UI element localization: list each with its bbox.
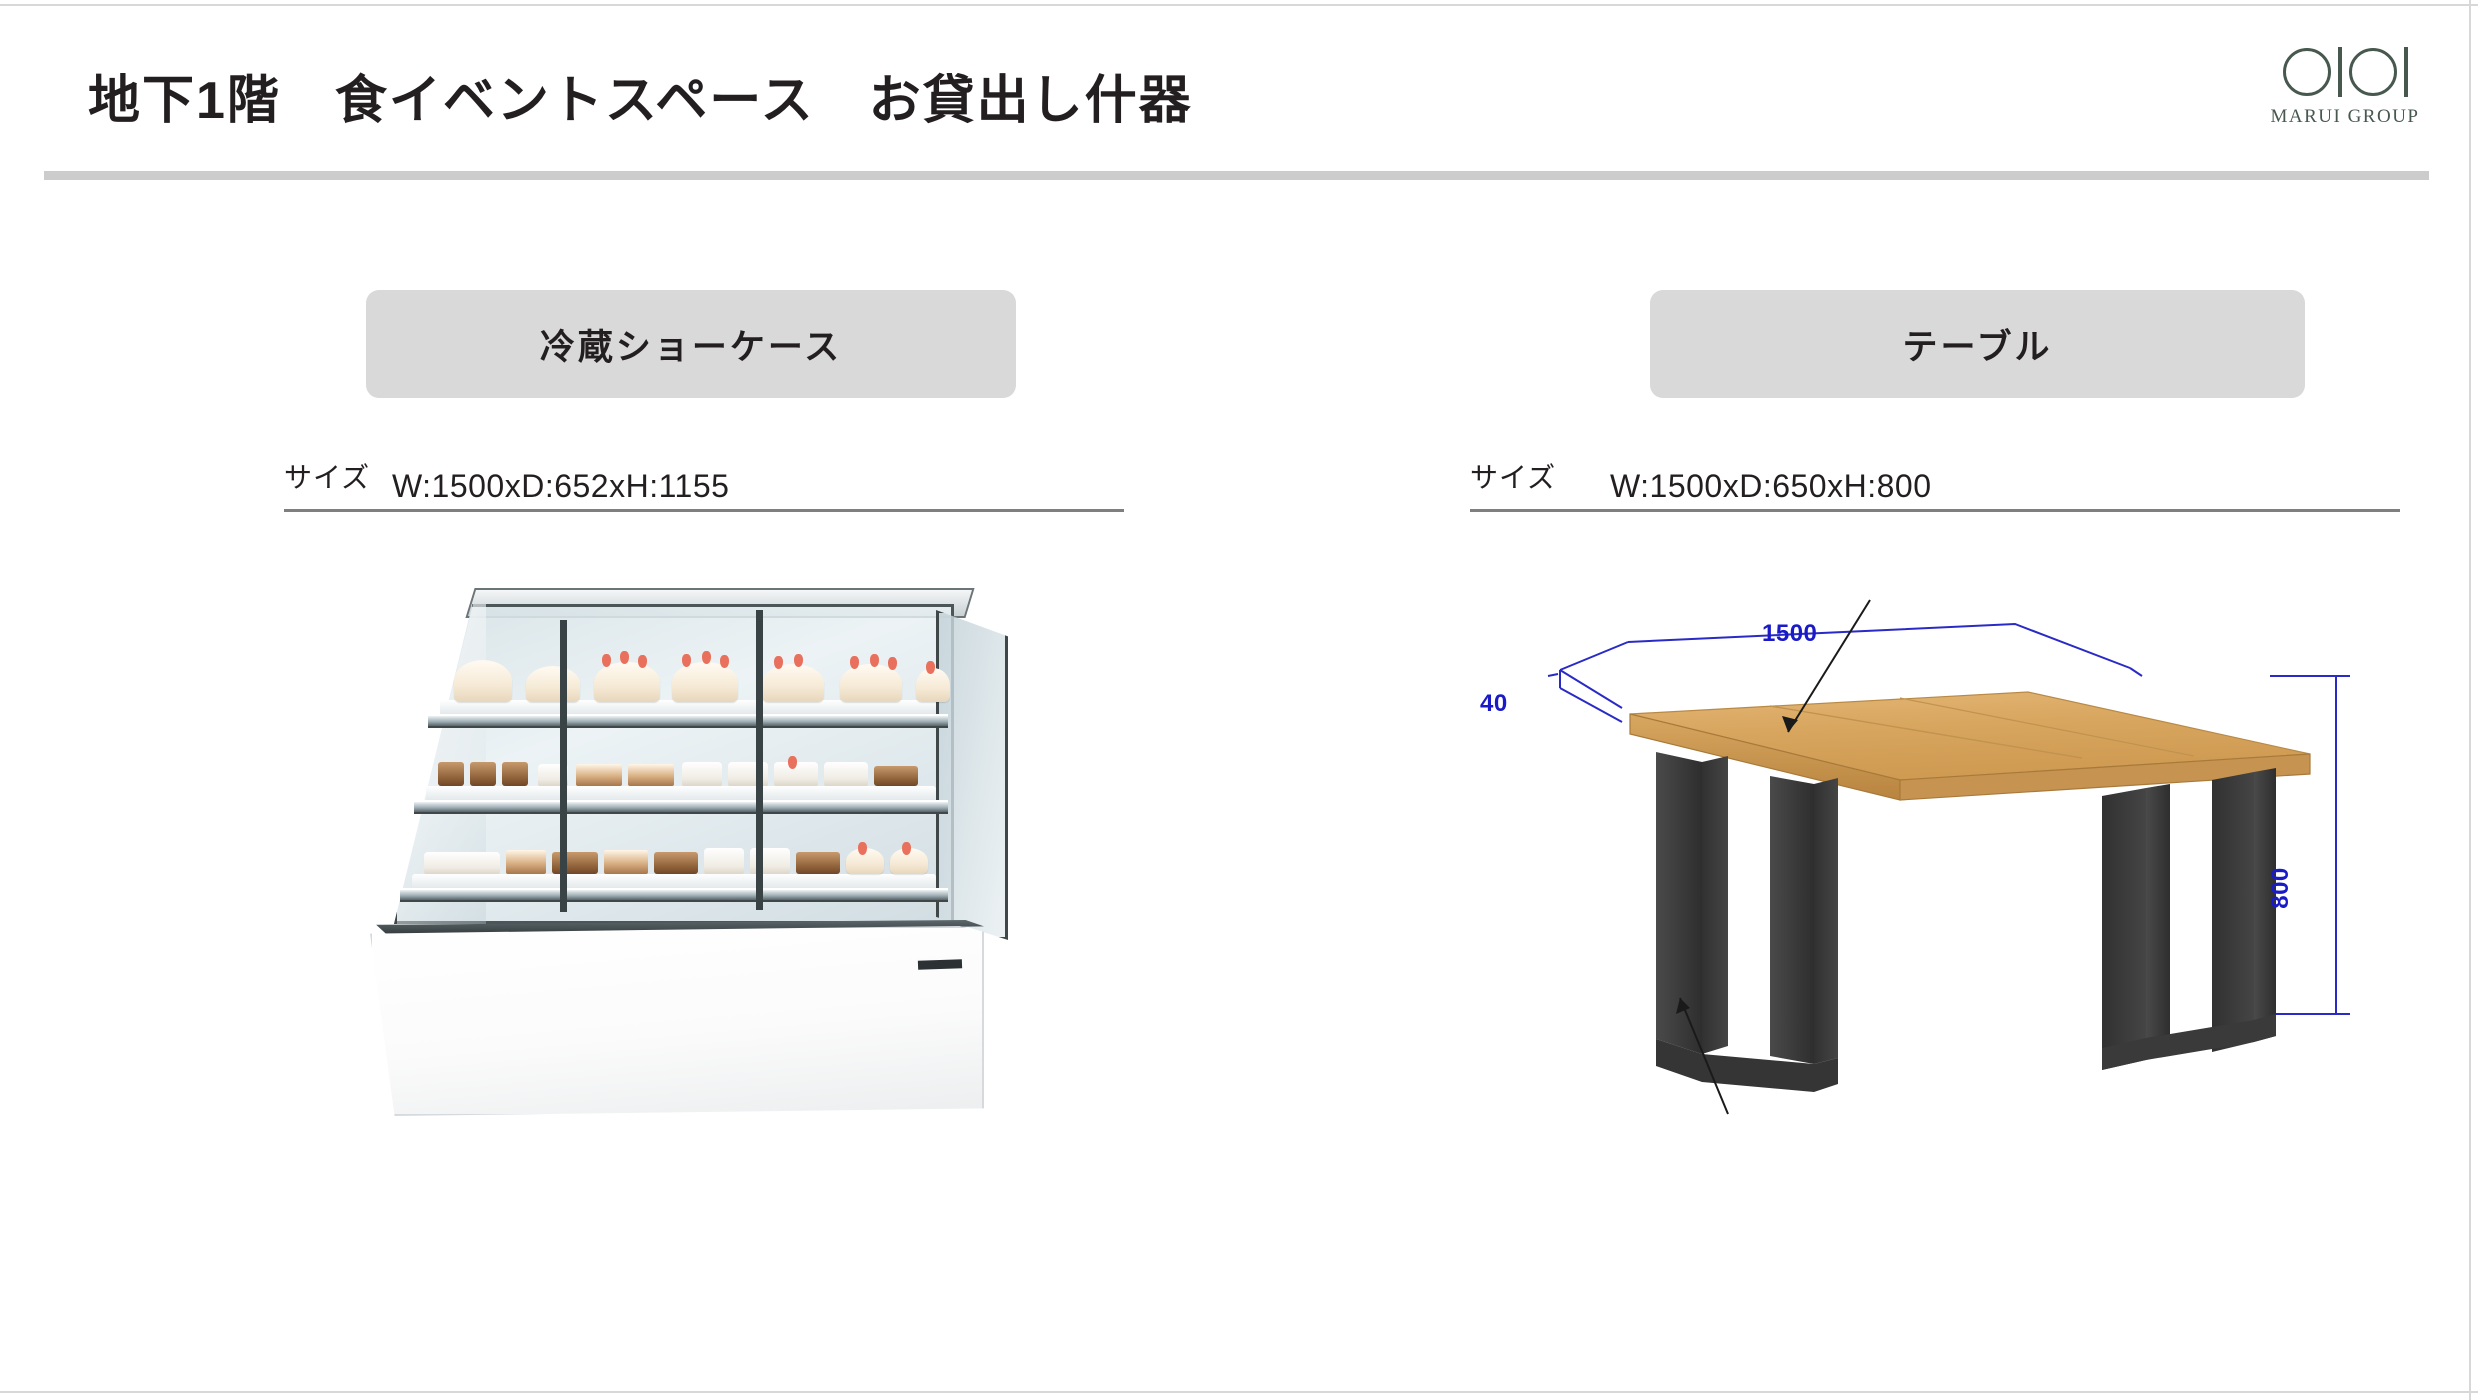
brand-wordmark: MARUI GROUP [2250,106,2440,128]
viewer-frame-top-border [0,4,2478,6]
viewer-frame-right-border [2469,0,2471,1400]
cake-item [682,762,722,786]
section-heading-table: テーブル [1650,290,2305,398]
size-value-showcase: W:1500xD:652xH:1155 [392,468,729,505]
cake-item [890,848,928,874]
showcase-base-cabinet [370,926,984,1116]
cake-item [654,852,698,874]
header-divider-bar [44,171,2429,180]
showcase-brand-badge [918,959,962,970]
table-technical-drawing [1470,584,2410,1144]
cake-item [552,852,598,874]
cake-item [628,764,674,786]
cake-item [470,762,496,786]
cake-item [672,662,738,702]
cake-item [424,852,500,874]
cake-item [526,666,580,702]
showcase-glass-mullion [756,610,763,910]
table-figure: 1500 40 800 [1470,584,2410,1144]
cake-item [704,848,744,874]
viewer-frame-bottom-border [0,1391,2478,1393]
table-leg-right [2102,768,2276,1070]
cake-item [874,766,918,786]
cake-item [762,664,824,702]
cake-item [604,850,648,874]
logo-circle-left-icon [2283,48,2331,96]
showcase-figure [280,584,1120,1164]
cake-item [774,762,818,786]
cake-item [438,762,464,786]
dimension-width-label: 1500 [1762,620,1817,648]
showcase-shelf-middle [414,800,948,814]
oioi-logo-mark [2250,44,2440,100]
dimension-height-label: 800 [2267,867,2295,909]
size-value-table: W:1500xD:650xH:800 [1610,468,1931,505]
dimension-thickness-label: 40 [1480,690,1508,718]
table-leg-left [1656,752,1838,1092]
size-row-table: サイズ W:1500xD:650xH:800 [1470,456,2400,512]
size-row-showcase: サイズ W:1500xD:652xH:1155 [284,456,1124,512]
slide-page: 地下1階 食イベントスペース お貸出し什器 MARUI GROUP 冷蔵ショーケ… [0,0,2478,1400]
product-column-table: テーブル サイズ W:1500xD:650xH:800 [1470,290,2430,1144]
size-label-showcase: サイズ [284,456,370,496]
logo-bar-left-icon [2338,47,2342,97]
table-top [1630,692,2310,800]
cake-item [506,850,546,874]
refrigerated-showcase-illustration [370,604,1020,1144]
cake-item [502,762,528,786]
cake-item [796,852,840,874]
cake-item [576,764,622,786]
logo-bar-right-icon [2404,47,2408,97]
marui-group-logo: MARUI GROUP [2250,44,2440,140]
showcase-shelf-top [428,714,948,728]
cake-item [594,662,660,702]
product-column-showcase: 冷蔵ショーケース サイズ W:1500xD:652xH:1155 [280,290,1140,1164]
cake-item [824,762,868,786]
cake-item [840,664,902,702]
page-title: 地下1階 食イベントスペース お貸出し什器 [88,58,1193,133]
section-heading-showcase: 冷蔵ショーケース [366,290,1016,398]
size-label-table: サイズ [1470,456,1556,496]
showcase-shelf-bottom [400,888,948,902]
cake-item [846,848,884,874]
logo-circle-right-icon [2349,48,2397,96]
cake-item [916,668,950,702]
showcase-glass-mullion [560,620,567,912]
cake-item [454,660,512,702]
